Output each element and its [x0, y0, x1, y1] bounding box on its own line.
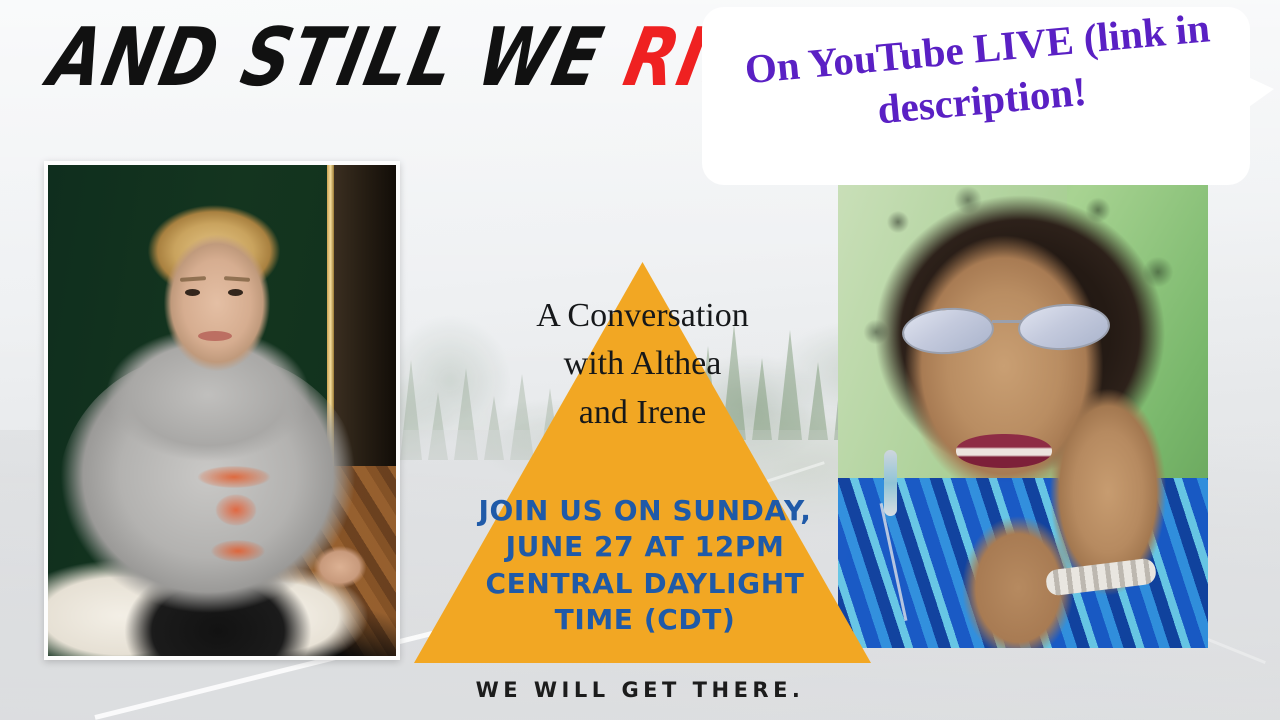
promo-poster: AND STILL WE RISE [0, 0, 1280, 720]
photo-right-mouth [956, 434, 1052, 468]
event-subtitle-line: A Conversation [470, 292, 815, 340]
photo-althea [44, 161, 400, 660]
event-details-line: CENTRAL DAYLIGHT [440, 566, 850, 602]
event-details: JOIN US ON SUNDAY, JUNE 27 AT 12PM CENTR… [440, 493, 850, 639]
photo-irene [838, 182, 1208, 648]
event-subtitle: A Conversation with Althea and Irene [470, 292, 815, 437]
event-details-line: TIME (CDT) [440, 602, 850, 638]
photo-left-face [156, 223, 278, 373]
photo-right-earring [884, 450, 897, 516]
photo-left-mouth [198, 331, 232, 341]
photo-left-eye [185, 289, 200, 296]
event-details-line: JUNE 27 AT 12PM [440, 529, 850, 565]
event-subtitle-line: with Althea [470, 340, 815, 388]
photo-right-lens [1017, 302, 1111, 353]
photo-right-lens [901, 305, 996, 357]
photo-right-glasses-bridge [992, 320, 1022, 323]
event-details-line: JOIN US ON SUNDAY, [440, 493, 850, 529]
poster-headline: AND STILL WE RISE [43, 18, 811, 99]
photo-left-eye [228, 289, 243, 296]
event-subtitle-line: and Irene [470, 389, 815, 437]
headline-text-black: AND STILL WE [42, 11, 637, 105]
poster-tagline: WE WILL GET THERE. [0, 678, 1280, 702]
photo-left-hand [312, 544, 368, 590]
glasses-icon [900, 302, 1120, 358]
photo-left-hoodie-graphic [186, 465, 286, 575]
callout-bubble-tail [1246, 76, 1274, 109]
